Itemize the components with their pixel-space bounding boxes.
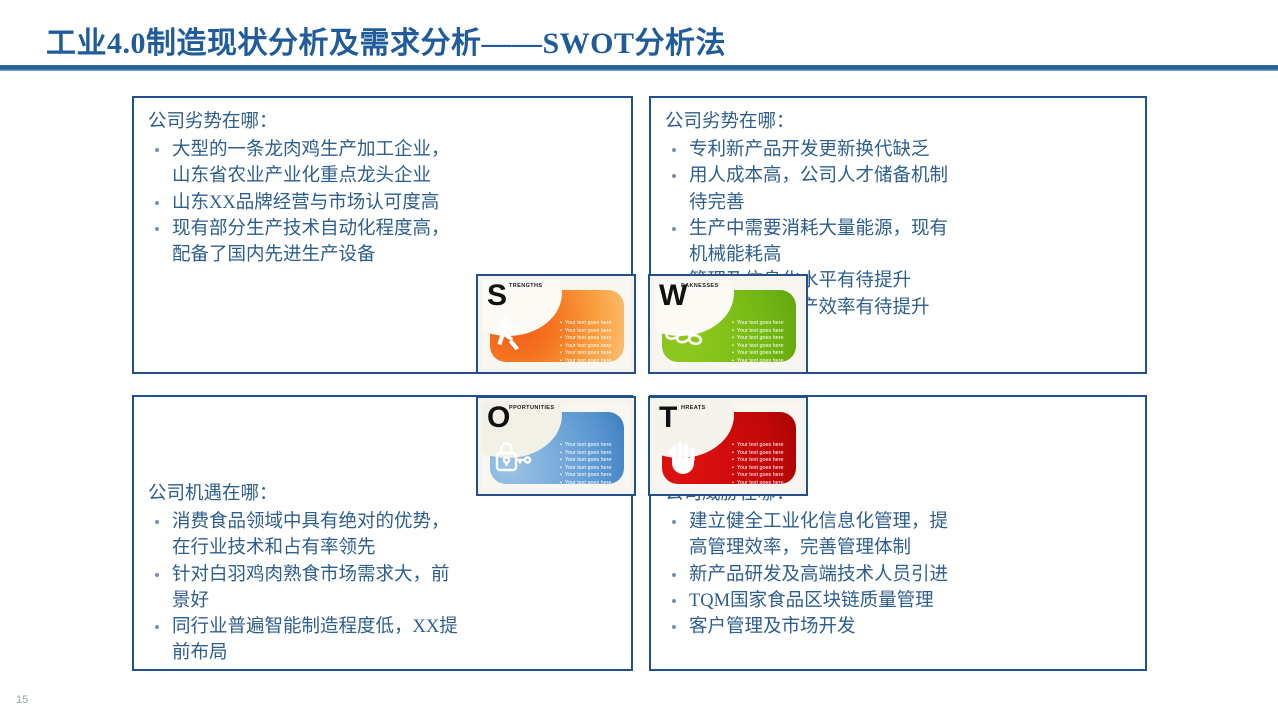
list-item: 消费食品领域中具有绝对的优势， 在行业技术和占有率领先 [148,509,617,562]
placeholder-line: Your text goes here [560,328,611,336]
quadrant-strengths-bullet-list: 大型的一条龙肉鸡生产加工企业， 山东省农业产业化重点龙头企业 山东XX品牌经营与… [148,137,617,268]
bullet-line-primary: 新产品研发及高端技术人员引进 [689,565,948,585]
placeholder-line: Your text goes here [560,450,611,458]
bullet-line-primary: 建立健全工业化信息化管理，提 [689,512,948,532]
placeholder-line: Your text goes here [560,442,611,450]
list-item: TQM国家食品区块链质量管理 [665,588,1131,614]
broken-chain-icon [664,314,706,354]
placeholder-line: Your text goes here [560,335,611,343]
padlock-key-icon [492,436,534,476]
quadrant-opportunities-body: 公司机遇在哪： 消费食品领域中具有绝对的优势， 在行业技术和占有率领先 针对白羽… [134,482,631,667]
placeholder-line: Your text goes here [560,465,611,473]
stop-hand-icon [664,436,706,476]
swot-card-weaknesses-inner: W EAKNESSES Your text goes here Your tex… [654,280,802,368]
list-item: 现有部分生产技术自动化程度高， 配备了国内先进生产设备 [148,216,617,269]
placeholder-line: Your text goes here [732,457,783,465]
list-item: 建立健全工业化信息化管理，提 高管理效率，完善管理体制 [665,509,1131,562]
bullet-line-primary: 消费食品领域中具有绝对的优势， [172,512,450,532]
swot-card-strengths: S TRENGTHS Your text goes here Your text… [476,274,636,374]
quadrant-opportunities-bullet-list: 消费食品领域中具有绝对的优势， 在行业技术和占有率领先 针对白羽鸡肉熟食市场需求… [148,509,617,667]
placeholder-line: Your text goes here [560,343,611,351]
quadrant-strengths-heading: 公司劣势在哪： [148,110,617,135]
bullet-line-continuation: 在行业技术和占有率领先 [172,535,617,561]
swot-card-opportunities-placeholder-lines: Your text goes here Your text goes here … [560,442,611,488]
bullet-line-continuation: 待完善 [689,190,1131,216]
placeholder-line: Your text goes here [560,320,611,328]
swot-card-opportunities-word: PPORTUNITIES [509,405,554,411]
quadrant-weaknesses-heading: 公司劣势在哪： [665,110,1131,135]
placeholder-line: Your text goes here [732,450,783,458]
placeholder-line: Your text goes here [560,472,611,480]
placeholder-line: Your text goes here [560,358,611,366]
quadrant-strengths-body: 公司劣势在哪： 大型的一条龙肉鸡生产加工企业， 山东省农业产业化重点龙头企业 山… [134,110,631,268]
placeholder-line: Your text goes here [732,442,783,450]
list-item: 客户管理及市场开发 [665,614,1131,640]
bullet-line-continuation: 高管理效率，完善管理体制 [689,535,1131,561]
bullet-line-primary: 大型的一条龙肉鸡生产加工企业， [172,140,450,160]
list-item: 用人成本高，公司人才储备机制 待完善 [665,163,1131,216]
swot-card-threats-word: HREATS [681,405,706,411]
swot-card-strengths-word: TRENGTHS [509,283,542,289]
bullet-line-continuation: 前布局 [172,640,617,666]
bullet-line-primary: 针对白羽鸡肉熟食市场需求大，前 [172,565,450,585]
swot-card-threats-inner: T HREATS Your text goes here Your text g… [654,402,802,490]
swot-card-strengths-letter: S [487,281,507,311]
placeholder-line: Your text goes here [732,480,783,488]
bullet-line-primary: TQM国家食品区块链质量管理 [689,591,934,611]
bullet-line-primary: 专利新产品开发更新换代缺乏 [689,140,930,160]
bullet-line-continuation: 景好 [172,588,617,614]
person-pushing-icon [492,314,534,354]
placeholder-line: Your text goes here [732,343,783,351]
placeholder-line: Your text goes here [732,320,783,328]
bullet-line-continuation: 机械能耗高 [689,242,1131,268]
list-item: 同行业普遍智能制造程度低，XX提 前布局 [148,614,617,667]
placeholder-line: Your text goes here [560,457,611,465]
list-item: 生产中需要消耗大量能源，现有 机械能耗高 [665,216,1131,269]
placeholder-line: Your text goes here [732,358,783,366]
swot-card-opportunities: O PPORTUNITIES Your text goes here Your … [476,396,636,496]
bullet-line-primary: 同行业普遍智能制造程度低，XX提 [172,617,458,637]
swot-card-threats-placeholder-lines: Your text goes here Your text goes here … [732,442,783,488]
bullet-line-primary: 生产中需要消耗大量能源，现有 [689,219,948,239]
placeholder-line: Your text goes here [732,465,783,473]
slide-header: 工业4.0制造现状分析及需求分析——SWOT分析法 [0,0,1278,78]
title-divider-rule [0,65,1278,71]
swot-card-weaknesses-word: EAKNESSES [681,283,719,289]
bullet-line-primary: 客户管理及市场开发 [689,617,856,637]
slide-page-number: 15 [16,694,28,706]
placeholder-line: Your text goes here [560,350,611,358]
swot-card-weaknesses-placeholder-lines: Your text goes here Your text goes here … [732,320,783,366]
placeholder-line: Your text goes here [732,328,783,336]
page-title: 工业4.0制造现状分析及需求分析——SWOT分析法 [46,18,726,62]
swot-card-strengths-inner: S TRENGTHS Your text goes here Your text… [482,280,630,368]
list-item: 专利新产品开发更新换代缺乏 [665,137,1131,163]
quadrant-threats-bullet-list: 建立健全工业化信息化管理，提 高管理效率，完善管理体制 新产品研发及高端技术人员… [665,509,1131,640]
bullet-line-continuation: 配备了国内先进生产设备 [172,242,617,268]
placeholder-line: Your text goes here [732,335,783,343]
bullet-line-continuation: 山东省农业产业化重点龙头企业 [172,163,617,189]
list-item: 大型的一条龙肉鸡生产加工企业， 山东省农业产业化重点龙头企业 [148,137,617,190]
list-item: 新产品研发及高端技术人员引进 [665,562,1131,588]
list-item: 针对白羽鸡肉熟食市场需求大，前 景好 [148,562,617,615]
bullet-line-primary: 山东XX品牌经营与市场认可度高 [172,193,439,213]
placeholder-line: Your text goes here [560,480,611,488]
swot-card-weaknesses: W EAKNESSES Your text goes here Your tex… [648,274,808,374]
placeholder-line: Your text goes here [732,472,783,480]
bullet-line-primary: 现有部分生产技术自动化程度高， [172,219,450,239]
bullet-line-primary: 用人成本高，公司人才储备机制 [689,166,948,186]
swot-card-strengths-placeholder-lines: Your text goes here Your text goes here … [560,320,611,366]
swot-card-opportunities-letter: O [487,403,510,433]
placeholder-line: Your text goes here [732,350,783,358]
list-item: 山东XX品牌经营与市场认可度高 [148,190,617,216]
swot-card-threats-letter: T [659,403,677,433]
quadrant-threats-body: 公司威胁在哪： 建立健全工业化信息化管理，提 高管理效率，完善管理体制 新产品研… [651,482,1145,640]
swot-card-threats: T HREATS Your text goes here Your text g… [648,396,808,496]
swot-card-opportunities-inner: O PPORTUNITIES Your text goes here Your … [482,402,630,490]
